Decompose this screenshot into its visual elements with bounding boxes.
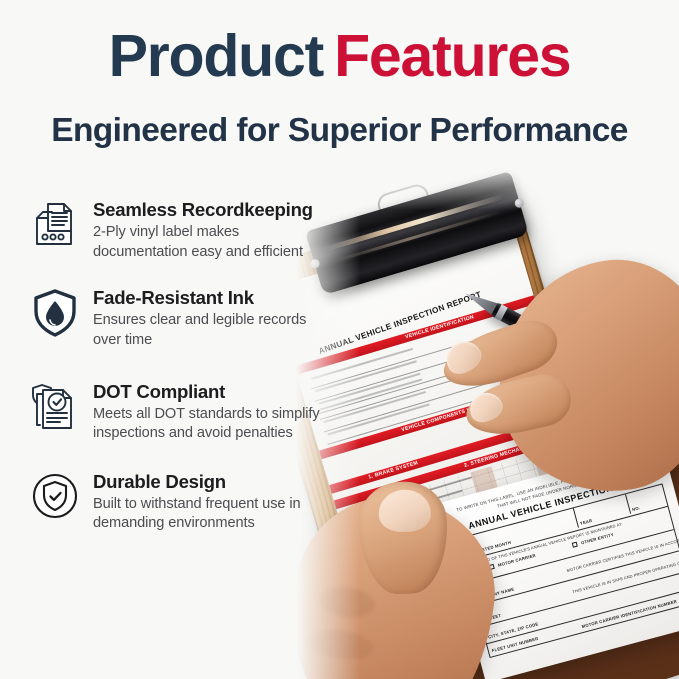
feature-description: 2-Ply vinyl label makes documentation ea… — [93, 223, 313, 262]
feature-description-line: Built to withstand frequent use in — [93, 495, 301, 514]
headline-container: ProductFeatures — [0, 26, 679, 87]
label-caption-year: YEAR — [579, 518, 593, 526]
page-title-part-one: Product — [109, 23, 324, 89]
page-title: ProductFeatures — [0, 26, 679, 87]
feature-description-line: inspections and avoid penalties — [93, 424, 320, 443]
label-checkbox-other-entity[interactable] — [572, 542, 578, 548]
feature-item-dot-compliant: DOT Compliant Meets all DOT standards to… — [24, 378, 340, 444]
document-box-icon — [24, 196, 86, 258]
infographic-canvas: BUCK U. VEHICLE IDENTIFICATION ANNUAL VE… — [0, 0, 679, 679]
feature-item-seamless-recordkeeping: Seamless Recordkeeping 2-Ply vinyl label… — [24, 196, 340, 262]
clip-highlight — [323, 194, 505, 252]
knuckle-shadow — [303, 627, 376, 663]
feature-title: Fade-Resistant Ink — [93, 287, 306, 308]
label-caption-no: NO. — [632, 505, 641, 512]
photo-background: BUCK U. VEHICLE IDENTIFICATION ANNUAL VE… — [282, 150, 679, 679]
feature-item-durable-design: Durable Design Built to withstand freque… — [24, 468, 340, 534]
label-divider — [477, 551, 679, 606]
feature-description-line: documentation easy and efficient — [93, 243, 313, 262]
feature-description-line: 2-Ply vinyl label makes — [93, 223, 313, 242]
page-subtitle: Engineered for Superior Performance — [0, 112, 679, 150]
feature-description-line: Ensures clear and legible records — [93, 311, 306, 330]
label-divider-vertical — [573, 508, 579, 528]
feature-description-line: over time — [93, 331, 306, 350]
feature-title: Durable Design — [93, 471, 301, 492]
feature-text-block: Durable Design Built to withstand freque… — [86, 468, 301, 534]
pen-metal-ring — [495, 304, 508, 321]
feature-item-fade-resistant-ink: Fade-Resistant Ink Ensures clear and leg… — [24, 284, 340, 350]
feature-description: Built to withstand frequent use in deman… — [93, 495, 301, 534]
page-title-part-two: Features — [334, 23, 570, 89]
shield-droplet-icon — [24, 284, 86, 346]
knuckle-shadow — [318, 584, 377, 621]
feature-text-block: DOT Compliant Meets all DOT standards to… — [86, 378, 320, 444]
feature-description: Meets all DOT standards to simplify insp… — [93, 405, 320, 444]
feature-text-block: Fade-Resistant Ink Ensures clear and leg… — [86, 284, 306, 350]
feature-description-line: demanding environments — [93, 514, 301, 533]
feature-text-block: Seamless Recordkeeping 2-Ply vinyl label… — [86, 196, 313, 262]
feature-title: DOT Compliant — [93, 381, 320, 402]
feature-description: Ensures clear and legible records over t… — [93, 311, 306, 350]
feature-list: Seamless Recordkeeping 2-Ply vinyl label… — [24, 196, 340, 551]
document-check-shield-icon — [24, 378, 86, 440]
product-photo: BUCK U. VEHICLE IDENTIFICATION ANNUAL VE… — [282, 150, 679, 679]
thumbnail — [378, 489, 431, 532]
feature-title: Seamless Recordkeeping — [93, 199, 313, 220]
feature-description-line: Meets all DOT standards to simplify — [93, 405, 320, 424]
shield-check-circle-icon — [24, 468, 86, 530]
label-divider-vertical — [625, 494, 631, 514]
